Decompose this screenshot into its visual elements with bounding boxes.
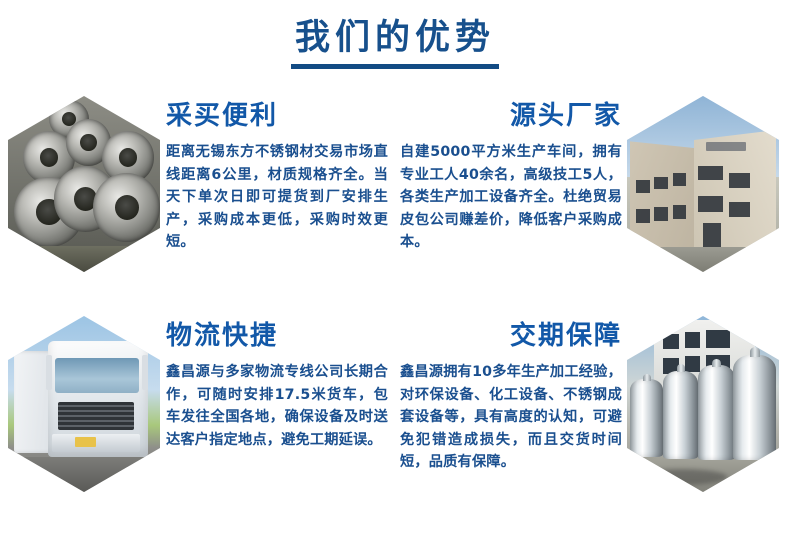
feature-image-2 (627, 96, 779, 272)
window-shape (636, 209, 650, 223)
feature-heading-3: 物流快捷 (166, 320, 388, 352)
truck-license-plate (75, 437, 96, 448)
feature-heading-4: 交期保障 (400, 320, 622, 352)
tank-shape (663, 371, 698, 459)
delivery-truck-image (8, 316, 160, 492)
feature-body-4: 鑫昌源拥有10多年生产加工经验，对环保设备、化工设备、不锈钢成套设备等，具有高度… (400, 361, 622, 474)
feature-image-4 (627, 316, 779, 492)
tank-shape (698, 365, 734, 460)
feature-body-3: 鑫昌源与多家物流专线公司长期合作，可随时安排17.5米货车，包车发往全国各地，确… (166, 361, 388, 451)
floor-shape (8, 246, 160, 272)
window-shape (729, 202, 750, 218)
feature-text-1: 采买便利 距离无锡东方不锈钢材交易市场直线距离6公里，材质规格齐全。当天下单次日… (166, 100, 388, 254)
feature-card-3: 物流快捷 鑫昌源与多家物流专线公司长期合作，可随时安排17.5米货车，包车发往全… (0, 310, 395, 530)
shadow-shape (636, 469, 727, 485)
window-shape (654, 207, 668, 221)
truck-mirror (46, 355, 52, 390)
road-shape (8, 457, 160, 492)
window-shape (706, 330, 730, 348)
window-shape (729, 173, 750, 187)
feature-row-2: 物流快捷 鑫昌源与多家物流专线公司长期合作，可随时安排17.5米货车，包车发往全… (0, 310, 790, 530)
feature-row-1: 采买便利 距离无锡东方不锈钢材交易市场直线距离6公里，材质规格齐全。当天下单次日… (0, 90, 790, 310)
window-shape (685, 356, 700, 372)
stainless-tanks-image (627, 316, 779, 492)
window-shape (673, 205, 687, 219)
window-shape (685, 332, 700, 348)
feature-heading-2: 源头厂家 (400, 100, 622, 132)
building-left-facade (630, 142, 700, 258)
feature-heading-1: 采买便利 (166, 100, 388, 132)
truck-grill (58, 402, 134, 430)
feature-text-2: 源头厂家 自建5000平方米生产车间，拥有专业工人40余名，高级技工5人，各类生… (400, 100, 622, 254)
feature-card-1: 采买便利 距离无锡东方不锈钢材交易市场直线距离6公里，材质规格齐全。当天下单次日… (0, 90, 395, 310)
steel-coils-image (8, 96, 160, 272)
factory-building-image (627, 96, 779, 272)
truck-bumper (52, 434, 140, 452)
feature-text-4: 交期保障 鑫昌源拥有10多年生产加工经验，对环保设备、化工设备、不锈钢成套设备等… (400, 320, 622, 474)
ground-shape (627, 247, 779, 272)
feature-image-1 (8, 96, 160, 272)
page-title: 我们的优势 (0, 16, 790, 60)
window-shape (654, 177, 668, 189)
feature-body-2: 自建5000平方米生产车间，拥有专业工人40余名，高级技工5人，各类生产加工设备… (400, 141, 622, 254)
feature-image-3 (8, 316, 160, 492)
features-grid: 采买便利 距离无锡东方不锈钢材交易市场直线距离6公里，材质规格齐全。当天下单次日… (0, 90, 790, 530)
page-title-block: 我们的优势 (0, 16, 790, 69)
window-shape (698, 166, 722, 180)
coil-shape (93, 173, 160, 242)
building-logo (706, 142, 746, 151)
feature-card-2: 源头厂家 自建5000平方米生产车间，拥有专业工人40余名，高级技工5人，各类生… (395, 90, 790, 310)
truck-windshield (55, 358, 139, 393)
window-shape (698, 196, 722, 212)
feature-text-3: 物流快捷 鑫昌源与多家物流专线公司长期合作，可随时安排17.5米货车，包车发往全… (166, 320, 388, 451)
feature-card-4: 交期保障 鑫昌源拥有10多年生产加工经验，对环保设备、化工设备、不锈钢成套设备等… (395, 310, 790, 530)
entrance-door (703, 223, 721, 248)
window-shape (663, 334, 678, 350)
truck-mirror (142, 355, 148, 390)
title-underline (291, 64, 499, 69)
tank-shape (733, 355, 776, 461)
window-shape (636, 180, 650, 192)
tank-shape (630, 379, 663, 456)
feature-body-1: 距离无锡东方不锈钢材交易市场直线距离6公里，材质规格齐全。当天下单次日即可提货到… (166, 141, 388, 254)
window-shape (673, 173, 687, 185)
